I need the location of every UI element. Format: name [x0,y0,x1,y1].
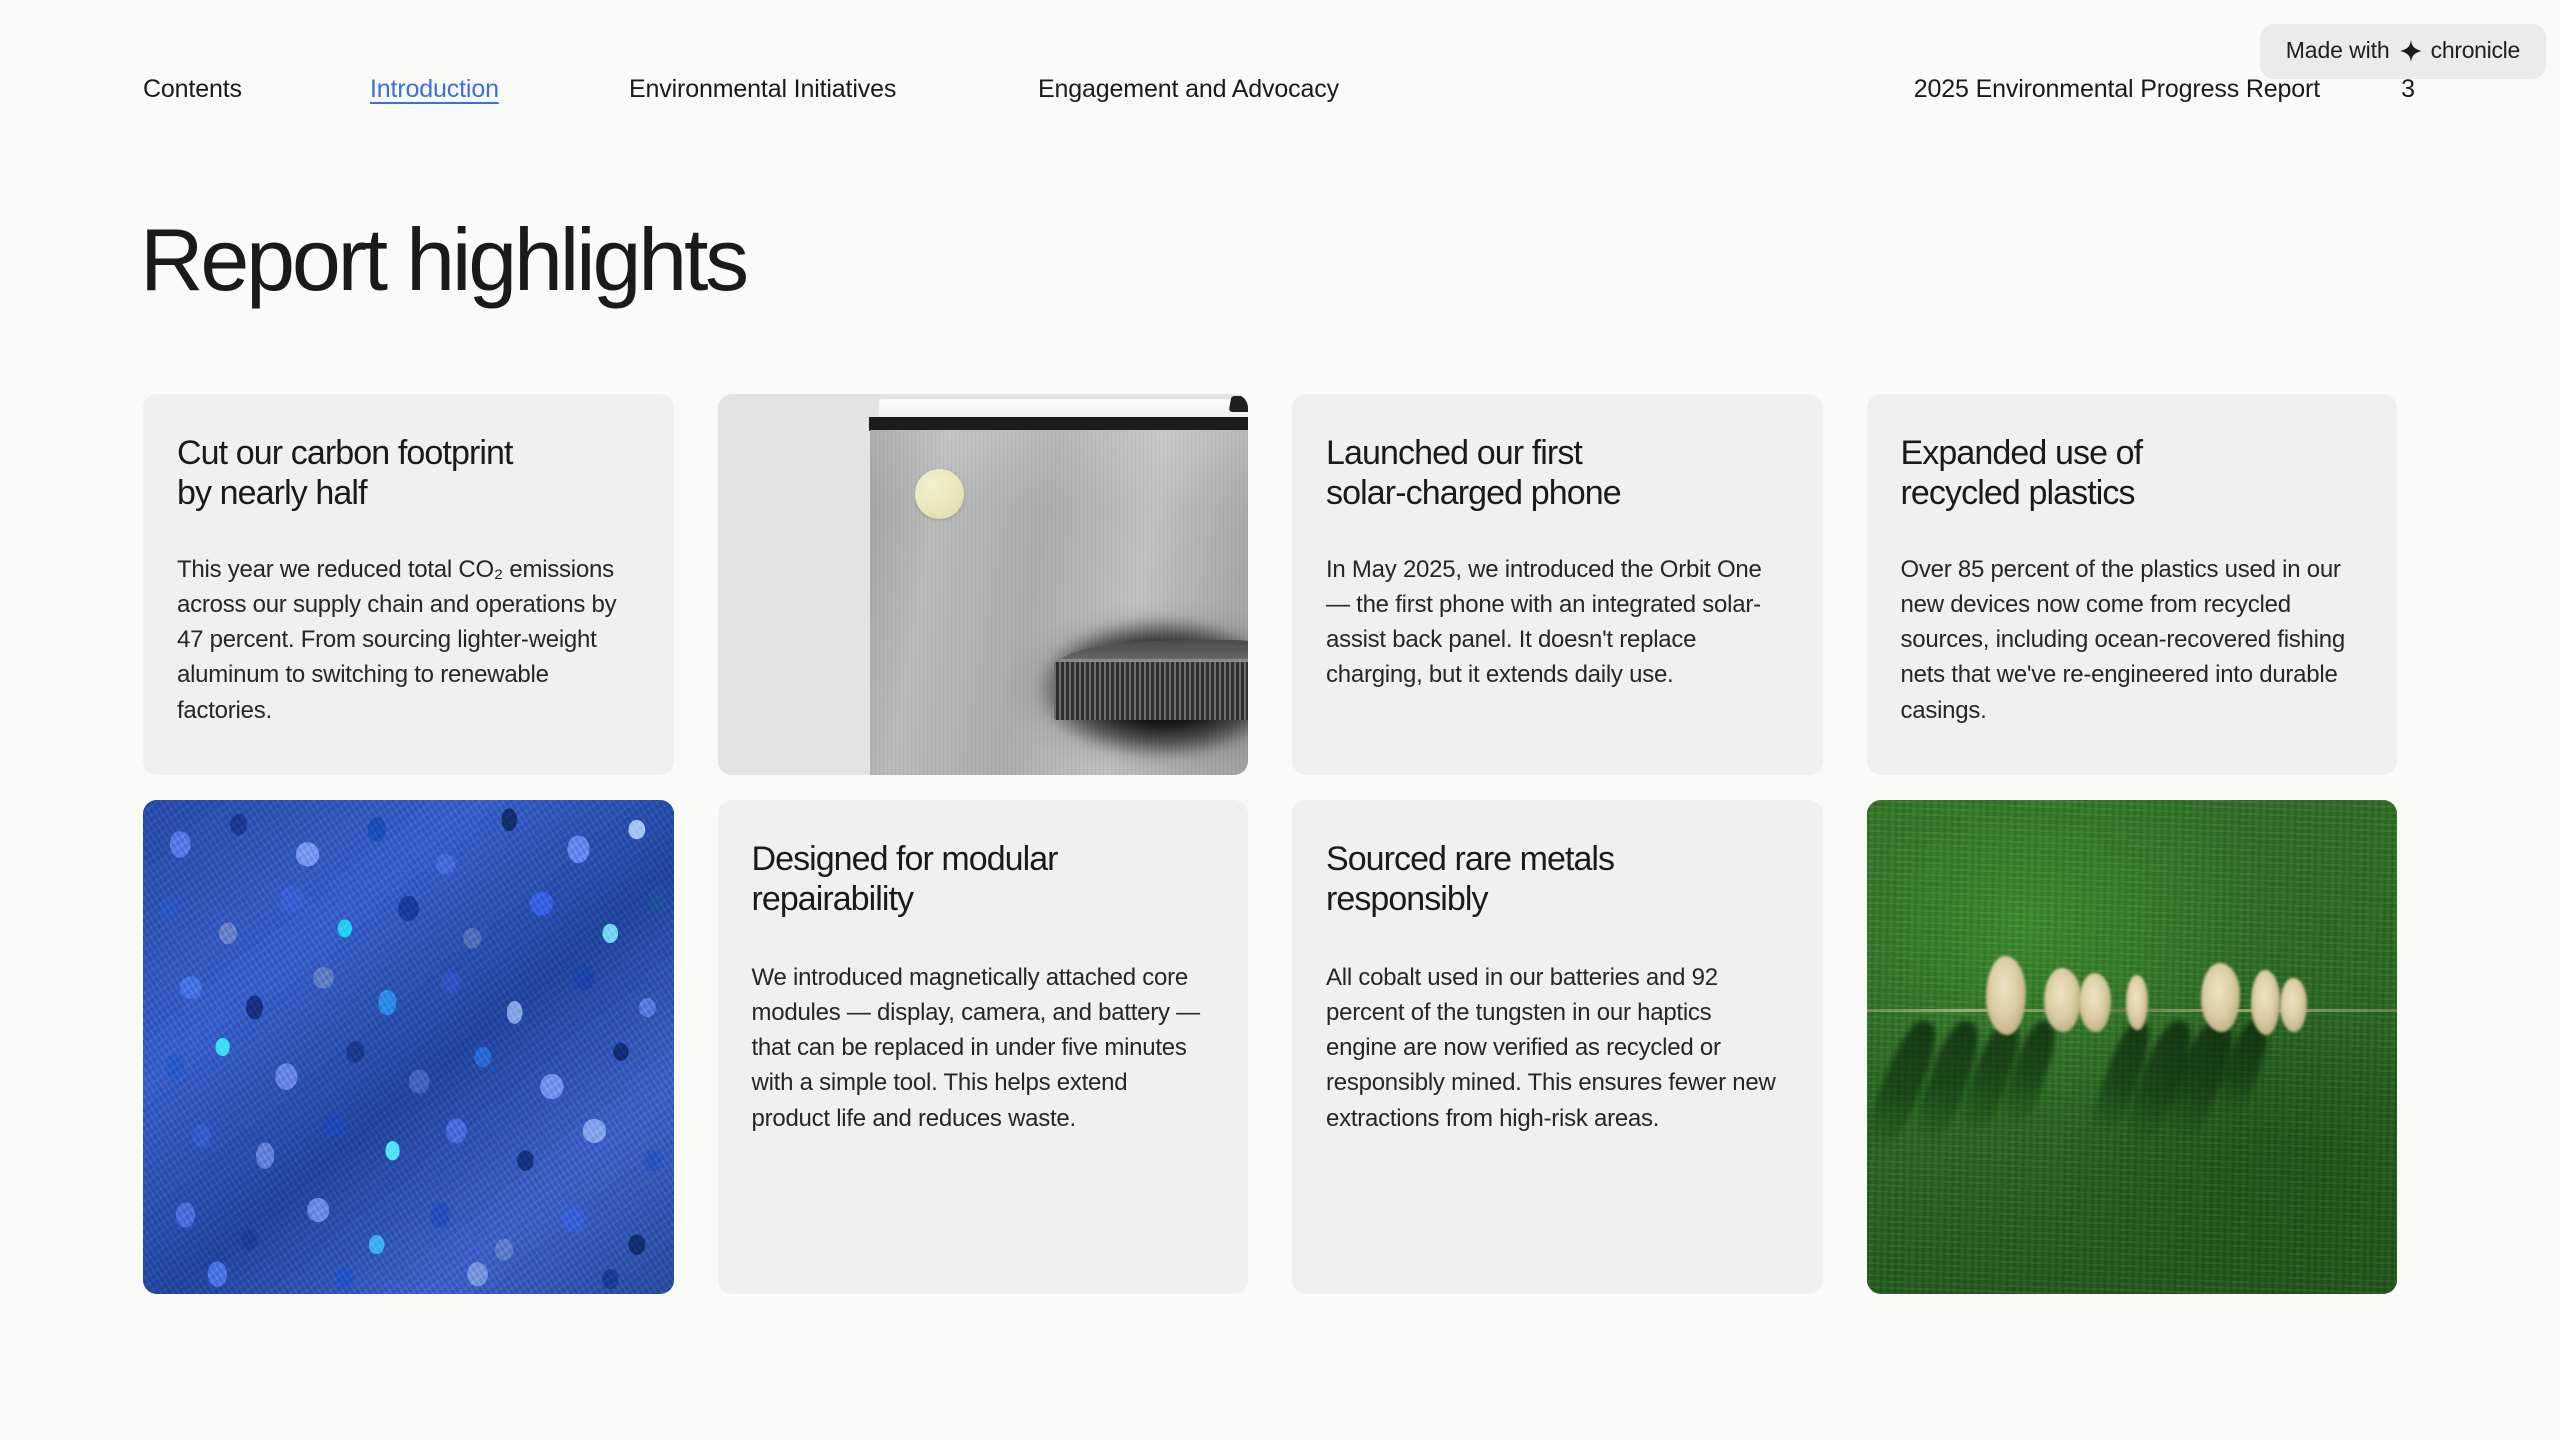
card-title: Designed for modular repairability [752,840,1213,920]
card-body: In May 2025, we introduced the Orbit One… [1326,552,1787,693]
device-corner-tab-shape [1229,396,1248,412]
card-body: We introduced magnetically attached core… [752,960,1213,1136]
highlight-card-carbon-footprint[interactable]: Cut our carbon footprint by nearly half … [143,394,674,775]
sparkle-icon [2399,39,2423,63]
report-highlights-grid: Cut our carbon footprint by nearly half … [143,394,2397,1294]
nav-item-introduction[interactable]: Introduction [370,75,629,104]
nav-item-engagement-and-advocacy[interactable]: Engagement and Advocacy [1038,75,1339,104]
device-top-edge-shape [869,417,1248,431]
highlight-card-recycled-plastics[interactable]: Expanded use of recycled plastics Over 8… [1867,394,2398,775]
aerial-green-field-trees-photo [1867,800,2398,1294]
device-yellow-dot-shape [915,469,964,518]
card-title: Cut our carbon footprint by nearly half [177,434,638,514]
highlight-card-solar-phone[interactable]: Launched our first solar-charged phone I… [1292,394,1823,775]
page-header: Contents Introduction Environmental Init… [0,0,2560,150]
blue-recycled-plastic-texture-photo [143,800,674,1294]
page-title: Report highlights [140,216,746,304]
highlight-card-aerial-field-photo[interactable] [1867,800,2398,1294]
device-closeup-photo [718,394,1249,775]
document-nav: Contents Introduction Environmental Init… [143,75,1339,104]
device-lid-shape [879,399,1248,418]
mosaic-grain-overlay [143,800,674,1294]
tree-canopy [2044,968,2081,1032]
page-number: 3 [2395,75,2415,104]
nav-item-contents[interactable]: Contents [143,75,370,104]
highlight-card-modular-repairability[interactable]: Designed for modular repairability We in… [718,800,1249,1294]
tree-canopy [2126,975,2147,1029]
header-right-group: 2025 Environmental Progress Report 3 [1914,75,2415,104]
made-with-chronicle-badge[interactable]: Made with chronicle [2260,24,2546,79]
card-body: All cobalt used in our batteries and 92 … [1326,960,1787,1136]
card-body: Over 85 percent of the plastics used in … [1901,552,2362,728]
card-title: Sourced rare metals responsibly [1326,840,1787,920]
badge-brand-label: chronicle [2431,37,2520,64]
badge-prefix-label: Made with [2286,37,2390,64]
tree-canopy [2251,970,2280,1034]
tree-canopy [1986,956,2026,1035]
device-lens-ribbed-shape [1054,659,1248,720]
card-title: Launched our first solar-charged phone [1326,434,1787,514]
card-body: This year we reduced total CO₂ emissions… [177,552,638,728]
nav-item-environmental-initiatives[interactable]: Environmental Initiatives [629,75,1038,104]
tree-canopy [2280,978,2307,1032]
tree-canopy [2079,973,2111,1032]
highlight-card-rare-metals[interactable]: Sourced rare metals responsibly All coba… [1292,800,1823,1294]
document-title: 2025 Environmental Progress Report [1914,75,2320,104]
highlight-card-device-photo[interactable] [718,394,1249,775]
card-title: Expanded use of recycled plastics [1901,434,2362,514]
tree-canopy [2201,963,2241,1032]
highlight-card-blue-plastic-photo[interactable] [143,800,674,1294]
